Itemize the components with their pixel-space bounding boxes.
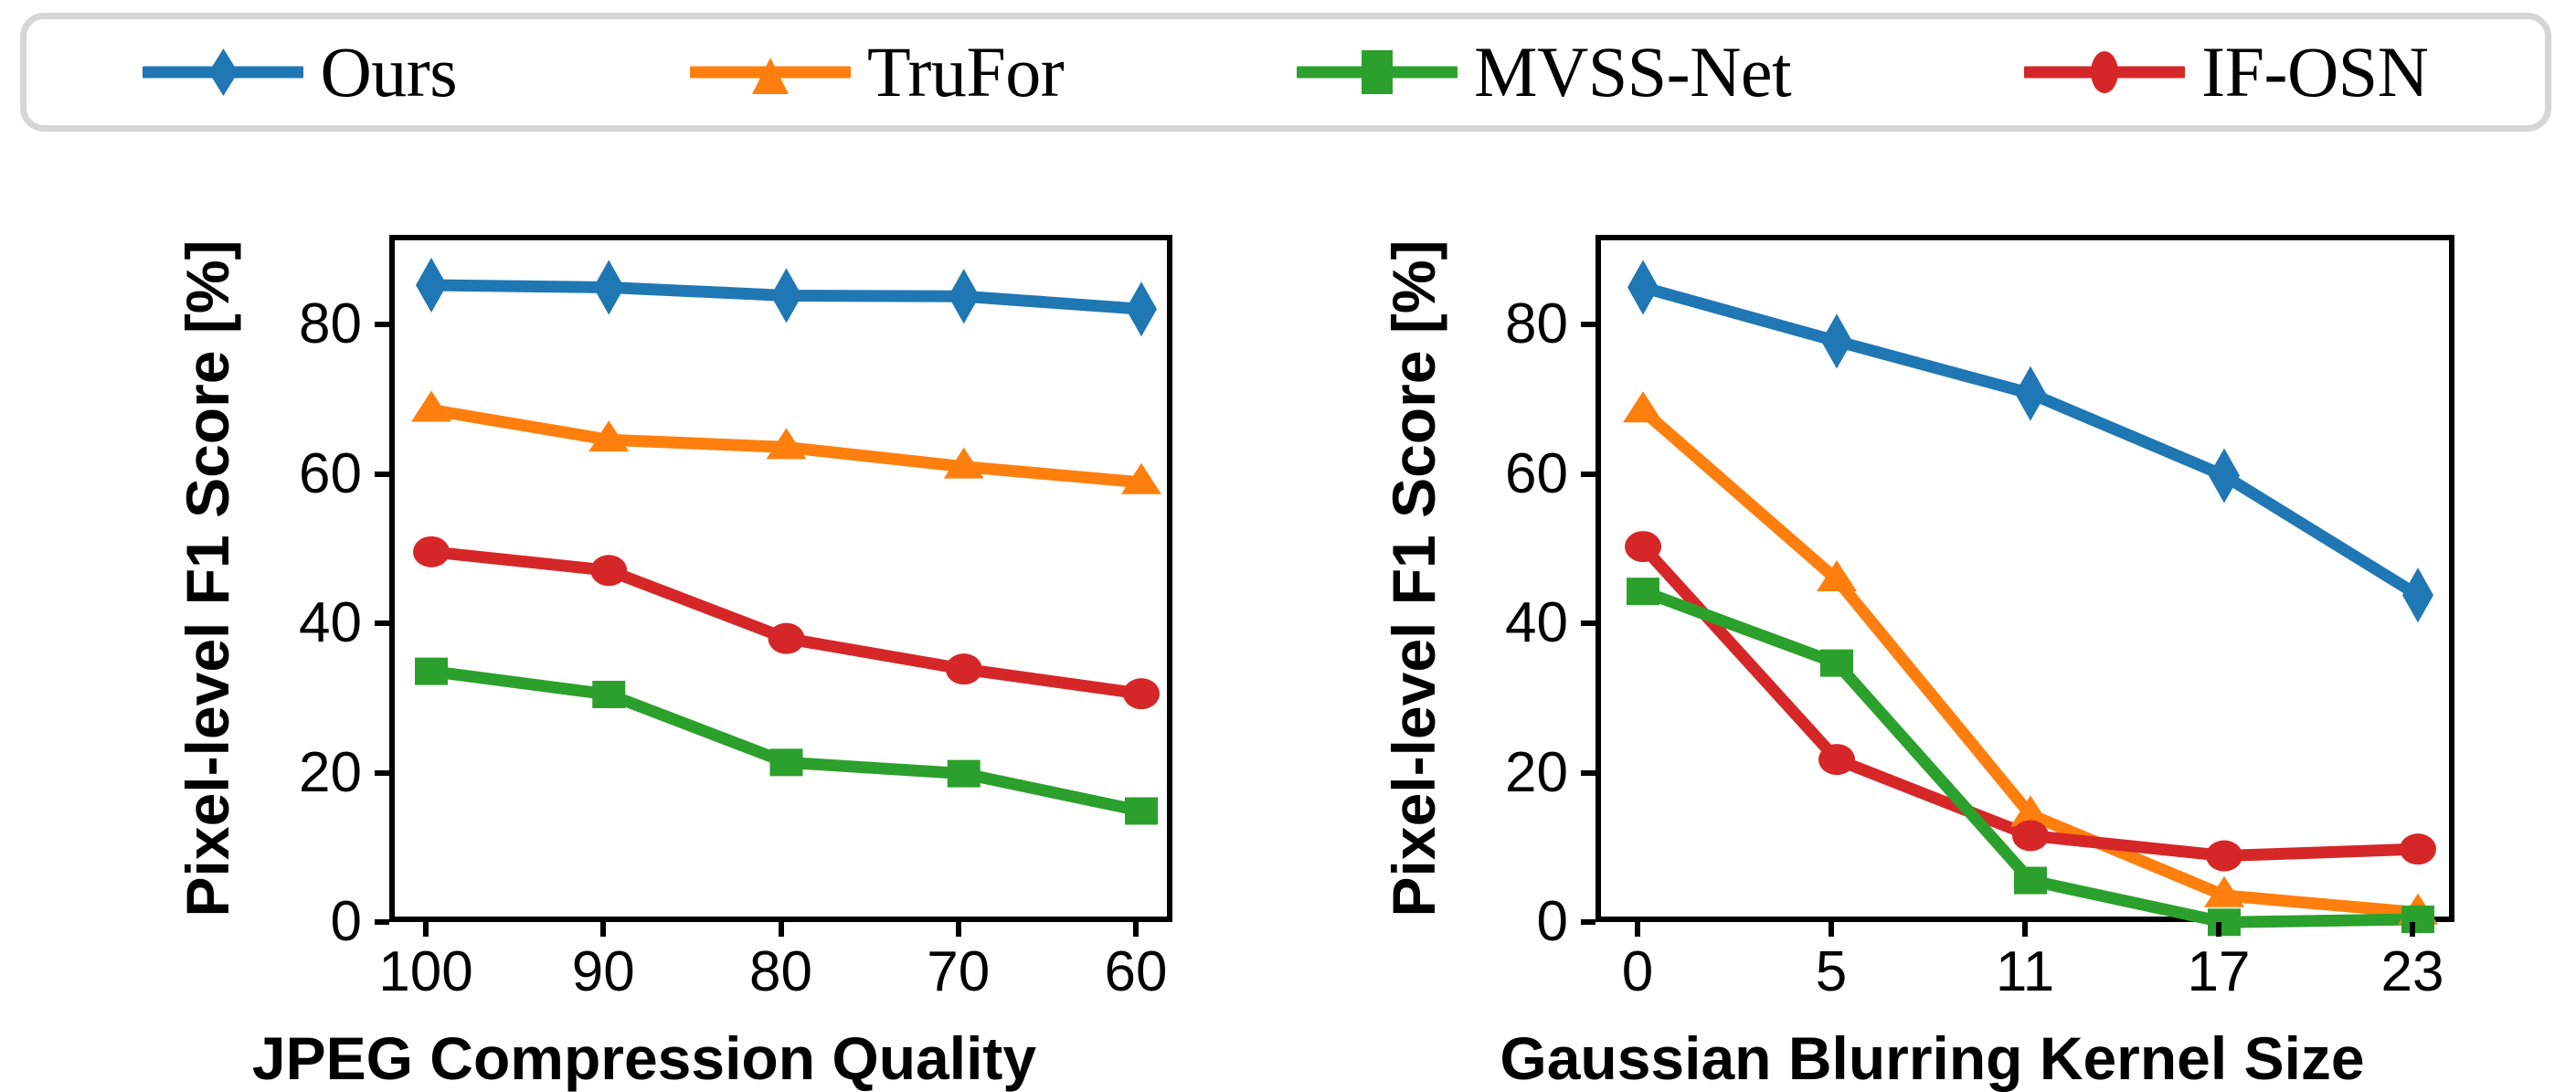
x-axis-tick-label: 70: [867, 944, 1050, 1001]
data-point-marker: [1125, 797, 1158, 824]
legend-swatch-if-osn: [2024, 57, 2185, 88]
series-line-ours: [1643, 287, 2418, 595]
data-point-marker: [1623, 391, 1663, 422]
y-axis-tick: [375, 472, 389, 477]
data-point-marker: [2209, 448, 2240, 503]
x-axis-tick: [2410, 922, 2415, 937]
x-axis-tick: [1635, 922, 1640, 937]
x-axis-tick-label: 23: [2321, 944, 2504, 1001]
data-point-marker: [770, 748, 803, 776]
data-point-marker: [1126, 281, 1157, 336]
data-point-marker: [2206, 841, 2242, 872]
plot-area-jpeg: [389, 235, 1172, 922]
x-axis-title: JPEG Compression Quality: [0, 1028, 1288, 1088]
x-axis-tick-label: 17: [2127, 944, 2310, 1001]
data-point-marker: [2400, 833, 2436, 864]
data-point-marker: [949, 269, 980, 323]
legend-label-ours: Ours: [320, 37, 457, 108]
y-axis-tick: [1581, 472, 1595, 477]
y-axis-tick: [1581, 770, 1595, 776]
data-point-marker: [1627, 578, 1659, 605]
y-axis-tick: [375, 322, 389, 327]
x-axis-tick: [956, 922, 961, 937]
x-axis-tick-label: 100: [334, 944, 517, 1001]
data-point-marker: [593, 260, 624, 314]
chart-panel-jpeg: 02040608010090807060JPEG Compression Qua…: [0, 137, 1288, 1080]
square-marker-icon: [1362, 50, 1393, 94]
x-axis-tick-label: 0: [1546, 944, 1729, 1001]
data-point-marker: [411, 390, 451, 421]
x-axis-tick: [2022, 922, 2028, 937]
x-axis-tick: [1133, 922, 1139, 937]
legend-swatch-mvss-net: [1297, 57, 1458, 88]
data-point-marker: [416, 258, 447, 313]
data-point-marker: [1818, 744, 1855, 775]
data-point-marker: [948, 760, 981, 788]
data-point-marker: [415, 658, 448, 685]
legend-item-trufor: TruFor: [690, 37, 1064, 108]
data-point-marker: [1820, 650, 1853, 677]
data-point-marker: [1821, 313, 1852, 368]
x-axis-tick: [779, 922, 784, 937]
x-axis-tick-label: 90: [512, 944, 694, 1001]
chart-legend: Ours TruFor MVSS-Net IF-OSN: [20, 13, 2551, 132]
x-axis-tick: [423, 922, 429, 937]
data-point-marker: [946, 653, 982, 684]
diamond-marker-icon: [208, 48, 238, 96]
plot-area-blur: [1595, 235, 2454, 922]
legend-label-trufor: TruFor: [867, 37, 1064, 108]
y-axis-title: Pixel-level F1 Score [%]: [177, 235, 238, 922]
plot-series-layer-jpeg: [395, 240, 1178, 928]
x-axis-title: Gaussian Blurring Kernel Size: [1288, 1028, 2576, 1088]
data-point-marker: [1123, 678, 1160, 709]
data-point-marker: [2015, 366, 2046, 421]
data-point-marker: [592, 681, 625, 708]
data-point-marker: [413, 536, 450, 567]
x-axis-tick-label: 5: [1740, 944, 1923, 1001]
data-point-marker: [771, 268, 802, 323]
data-point-marker: [1625, 531, 1661, 562]
data-point-marker: [2402, 567, 2433, 622]
data-point-marker: [769, 623, 805, 654]
legend-swatch-trufor: [690, 57, 851, 88]
legend-item-ours: Ours: [143, 37, 457, 108]
x-axis-tick: [2216, 922, 2221, 937]
legend-swatch-ours: [143, 57, 303, 88]
chart-panel-blur: 02040608005111723Gaussian Blurring Kerne…: [1288, 137, 2576, 1080]
y-axis-tick: [1581, 322, 1595, 327]
data-point-marker: [1627, 260, 1659, 314]
legend-label-if-osn: IF-OSN: [2201, 37, 2428, 108]
legend-item-if-osn: IF-OSN: [2024, 37, 2428, 108]
x-axis-tick-label: 80: [690, 944, 873, 1001]
x-axis-tick: [600, 922, 606, 937]
x-axis-tick-label: 60: [1044, 944, 1227, 1001]
data-point-marker: [2208, 908, 2241, 936]
legend-label-mvss-net: MVSS-Net: [1474, 37, 1791, 108]
data-point-marker: [2012, 820, 2049, 851]
data-point-marker: [590, 555, 627, 586]
x-axis-tick: [1829, 922, 1834, 937]
y-axis-tick: [375, 919, 389, 925]
data-point-marker: [2401, 906, 2434, 933]
legend-item-mvss-net: MVSS-Net: [1297, 37, 1791, 108]
x-axis-tick-label: 11: [1934, 944, 2116, 1001]
y-axis-tick: [375, 770, 389, 776]
circle-marker-icon: [2091, 51, 2118, 93]
y-axis-tick: [1581, 919, 1595, 925]
y-axis-title: Pixel-level F1 Score [%]: [1383, 235, 1444, 922]
series-line-mvss-net: [431, 672, 1141, 811]
series-line-if-osn: [431, 552, 1141, 694]
plot-series-layer-blur: [1601, 240, 2460, 928]
y-axis-tick: [375, 620, 389, 626]
data-point-marker: [2014, 867, 2047, 895]
y-axis-tick: [1581, 620, 1595, 626]
